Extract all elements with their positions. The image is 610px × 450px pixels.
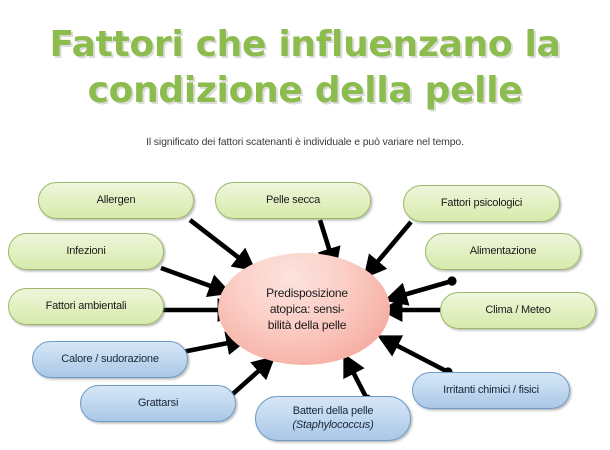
node-fattori-ambientali-label: Fattori ambientali bbox=[46, 300, 127, 314]
node-fattori-psicologici-label: Fattori psicologici bbox=[441, 197, 522, 211]
node-clima-meteo[interactable]: Clima / Meteo bbox=[440, 292, 596, 329]
center-node-line-1: Predisposizione bbox=[266, 285, 348, 301]
node-alimentazione[interactable]: Alimentazione bbox=[425, 233, 581, 270]
center-node-label: Predisposizione atopica: sensi- bilità d… bbox=[260, 285, 348, 333]
node-calore-sudorazione-label: Calore / sudorazione bbox=[61, 353, 159, 367]
arrow-fattori-psicologici bbox=[374, 222, 411, 266]
node-grattarsi-label: Grattarsi bbox=[138, 397, 178, 411]
arrow-pelle-secca bbox=[320, 220, 331, 255]
node-irritanti-chimici-fisici-label: Irritanti chimici / fisici bbox=[443, 384, 539, 398]
node-calore-sudorazione[interactable]: Calore / sudorazione bbox=[32, 341, 188, 378]
center-node-line-2: atopica: sensi- bbox=[266, 301, 348, 317]
node-batteri-della-pelle[interactable]: Batteri della pelle (Staphylococcus) bbox=[255, 396, 411, 441]
node-pelle-secca-label: Pelle secca bbox=[266, 194, 320, 208]
arrow-allergen bbox=[190, 220, 243, 261]
node-batteri-della-pelle-label: Batteri della pelle (Staphylococcus) bbox=[292, 405, 373, 432]
node-batteri-line-1: Batteri della pelle bbox=[293, 405, 374, 417]
node-infezioni-label: Infezioni bbox=[66, 245, 105, 259]
arrow-infezioni bbox=[161, 268, 216, 288]
node-allergen-label: Allergen bbox=[97, 194, 136, 208]
node-pelle-secca[interactable]: Pelle secca bbox=[215, 182, 371, 219]
node-alimentazione-label: Alimentazione bbox=[470, 245, 537, 259]
node-infezioni[interactable]: Infezioni bbox=[8, 233, 164, 270]
node-fattori-ambientali[interactable]: Fattori ambientali bbox=[8, 288, 164, 325]
node-grattarsi[interactable]: Grattarsi bbox=[80, 385, 236, 422]
node-allergen[interactable]: Allergen bbox=[38, 182, 194, 219]
arrow-alimentazione bbox=[400, 276, 457, 296]
node-batteri-line-2: (Staphylococcus) bbox=[292, 419, 373, 433]
node-fattori-psicologici[interactable]: Fattori psicologici bbox=[403, 185, 560, 222]
center-node-predisposizione-atopica[interactable]: Predisposizione atopica: sensi- bilità d… bbox=[218, 253, 390, 365]
node-clima-meteo-label: Clima / Meteo bbox=[485, 304, 550, 318]
node-irritanti-chimici-fisici[interactable]: Irritanti chimici / fisici bbox=[412, 372, 570, 409]
center-node-line-3: bilità della pelle bbox=[266, 317, 348, 333]
concept-map-diagram: Predisposizione atopica: sensi- bilità d… bbox=[0, 0, 610, 450]
